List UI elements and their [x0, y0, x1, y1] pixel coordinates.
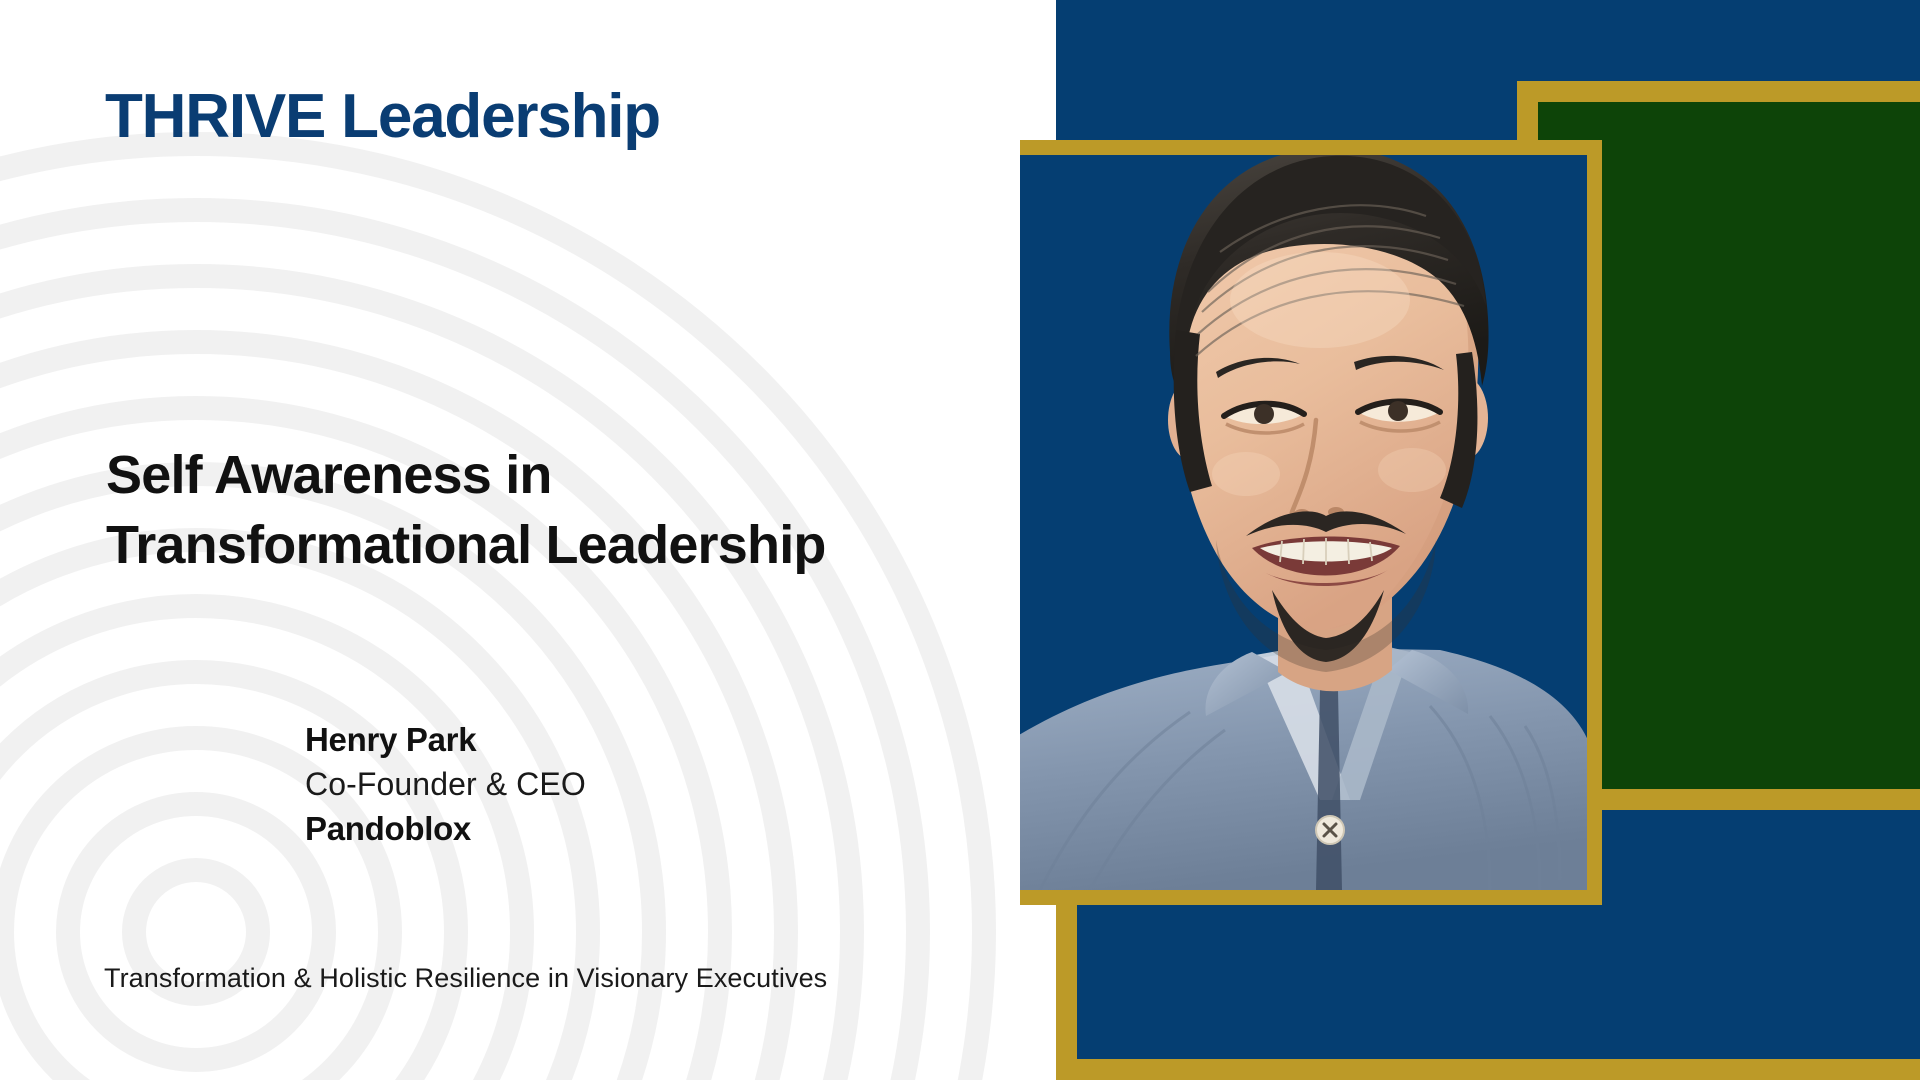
blue-slab-bottom [1077, 905, 1920, 1059]
speaker-role: Co-Founder & CEO [305, 762, 586, 807]
photo-panel-blue [1020, 155, 1587, 890]
page-title: Self Awareness in Transformational Leade… [106, 440, 826, 580]
headline-line-2: Transformational Leadership [106, 510, 826, 580]
geometric-frame-artwork [1020, 0, 1920, 1080]
brand-title: THRIVE Leadership [105, 85, 660, 149]
speaker-block: Henry Park Co-Founder & CEO Pandoblox [305, 718, 586, 851]
slide-canvas: THRIVE Leadership Self Awareness in Tran… [0, 0, 1920, 1080]
speaker-organization: Pandoblox [305, 807, 586, 851]
speaker-name: Henry Park [305, 718, 586, 762]
headline-line-1: Self Awareness in [106, 445, 552, 505]
tagline: Transformation & Holistic Resilience in … [104, 963, 827, 994]
text-content: THRIVE Leadership Self Awareness in Tran… [0, 0, 1060, 1080]
